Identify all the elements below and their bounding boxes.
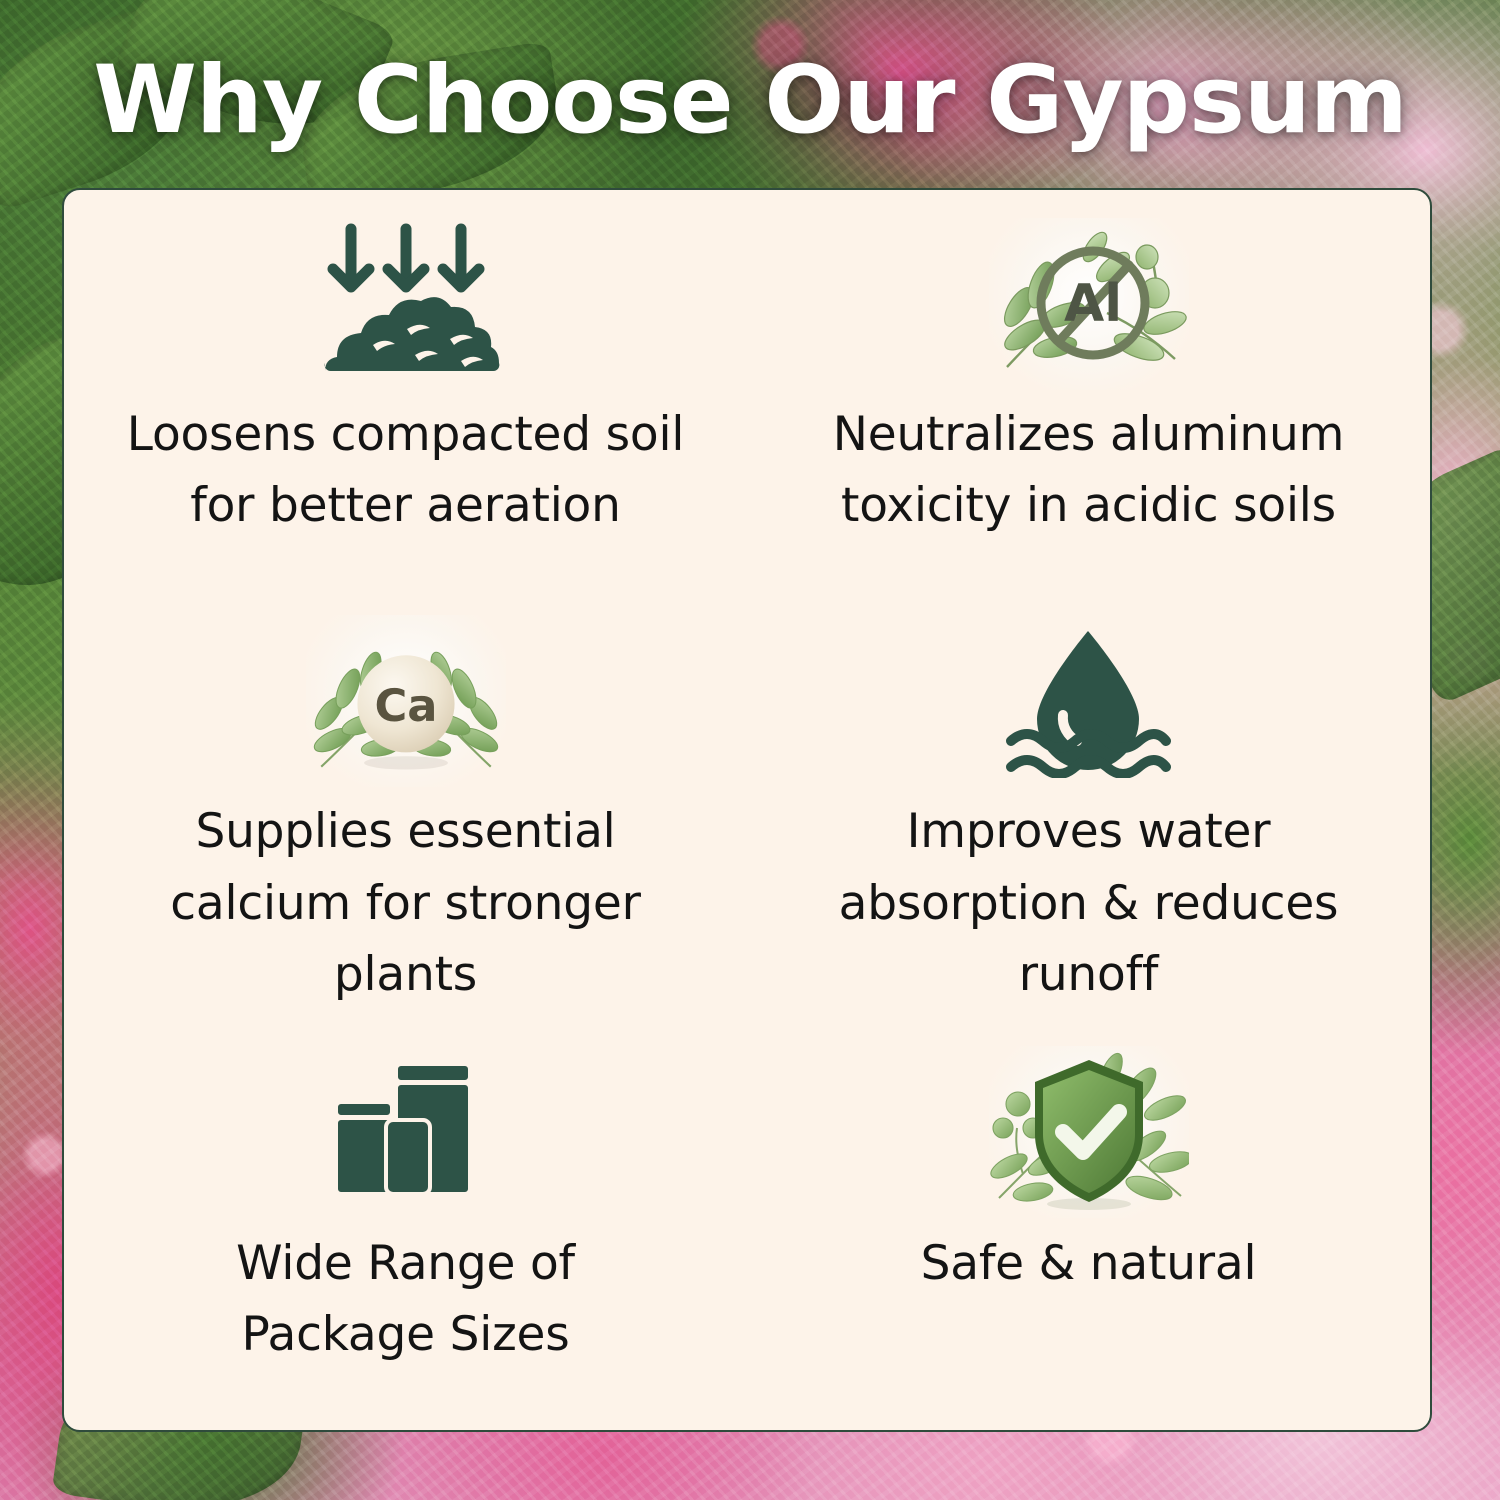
infographic-stage: Why Choose Our Gypsum bbox=[0, 0, 1500, 1500]
benefit-text: Neutralizes aluminum toxicity in acidic … bbox=[809, 399, 1369, 542]
benefits-grid: Loosens compacted soil for better aerati… bbox=[64, 190, 1430, 1430]
water-absorption-icon bbox=[1001, 613, 1176, 788]
aluminum-symbol-text: Al bbox=[1063, 274, 1121, 334]
benefit-text: Safe & natural bbox=[921, 1228, 1257, 1299]
benefit-item-calcium: Ca Supplies essential calcium for strong… bbox=[64, 603, 747, 1016]
benefit-item-aeration: Loosens compacted soil for better aerati… bbox=[64, 190, 747, 603]
benefit-item-water: Improves water absorption & reduces runo… bbox=[747, 603, 1430, 1016]
calcium-icon: Ca bbox=[306, 613, 506, 788]
benefit-text: Wide Range of Package Sizes bbox=[146, 1228, 666, 1371]
benefits-card: Loosens compacted soil for better aerati… bbox=[62, 188, 1432, 1432]
icon-glow bbox=[989, 1046, 1189, 1218]
benefit-text: Supplies essential calcium for stronger … bbox=[146, 796, 666, 1010]
soil-aeration-icon bbox=[311, 216, 501, 391]
page-title: Why Choose Our Gypsum bbox=[0, 46, 1500, 155]
benefit-item-safe: Safe & natural bbox=[747, 1017, 1430, 1430]
calcium-symbol-text: Ca bbox=[374, 679, 437, 732]
package-sizes-icon bbox=[316, 1045, 496, 1220]
benefit-text: Loosens compacted soil for better aerati… bbox=[126, 399, 686, 542]
benefit-item-aluminum: Al Neutralizes aluminum toxicity in acid… bbox=[747, 190, 1430, 603]
benefit-item-packages: Wide Range of Package Sizes bbox=[64, 1017, 747, 1430]
icon-glow: Al bbox=[989, 218, 1189, 390]
safe-natural-shield-icon bbox=[989, 1045, 1189, 1220]
icon-glow: Ca bbox=[306, 615, 506, 787]
no-aluminum-icon: Al bbox=[989, 216, 1189, 391]
benefit-text: Improves water absorption & reduces runo… bbox=[829, 796, 1349, 1010]
